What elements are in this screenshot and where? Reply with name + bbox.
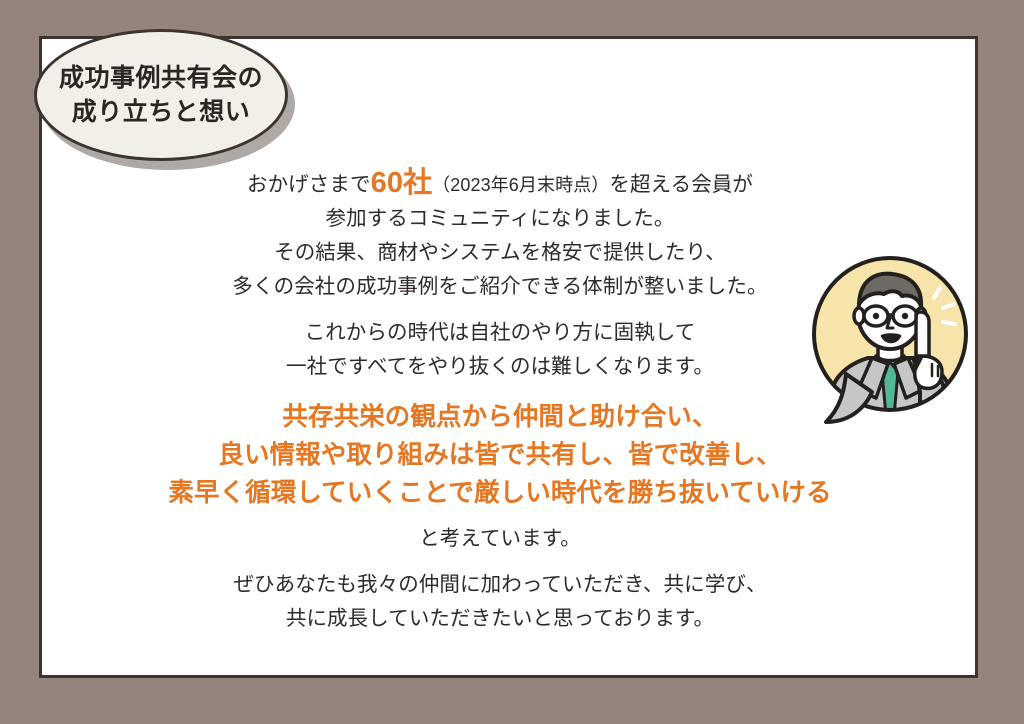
member-count-highlight: 60社: [371, 167, 433, 199]
highlight-line-2: 良い情報や取り組みは皆で共有し、皆で改善し、: [22, 436, 978, 474]
paragraph-4-line-1: と考えています。: [22, 522, 978, 556]
line-1-prefix: おかげさまで: [247, 173, 371, 196]
paragraph-1-line-1: おかげさまで60社（2023年6月末時点）を超える会員が: [22, 166, 978, 202]
highlight-line-3: 素早く循環していくことで厳しい時代を勝ち抜いていける: [22, 474, 978, 512]
badge-text: 成功事例共有会の 成り立ちと想い: [34, 29, 288, 161]
paragraph-4: と考えています。: [22, 522, 978, 556]
title-badge: 成功事例共有会の 成り立ちと想い: [34, 29, 288, 161]
badge-line-1: 成功事例共有会の: [59, 64, 263, 92]
paragraph-5-line-1: ぜひあなたも我々の仲間に加わっていただき、共に学び、: [22, 568, 978, 602]
paragraph-1-line-2: 参加するコミュニティになりました。: [22, 202, 978, 236]
paragraph-5-line-2: 共に成長していただきたいと思っております。: [22, 602, 978, 636]
paragraph-5: ぜひあなたも我々の仲間に加わっていただき、共に学び、 共に成長していただきたいと…: [22, 568, 978, 636]
slide-canvas: 成功事例共有会の 成り立ちと想い おかげさまで60社（2023年6月末時点）を超…: [0, 0, 1024, 724]
businessman-pointing-up-avatar-icon: [810, 252, 976, 428]
as-of-date-note: （2023年6月末時点）: [432, 175, 609, 195]
badge-line-2: 成り立ちと想い: [72, 98, 251, 126]
line-1-suffix: を超える会員が: [609, 173, 753, 196]
